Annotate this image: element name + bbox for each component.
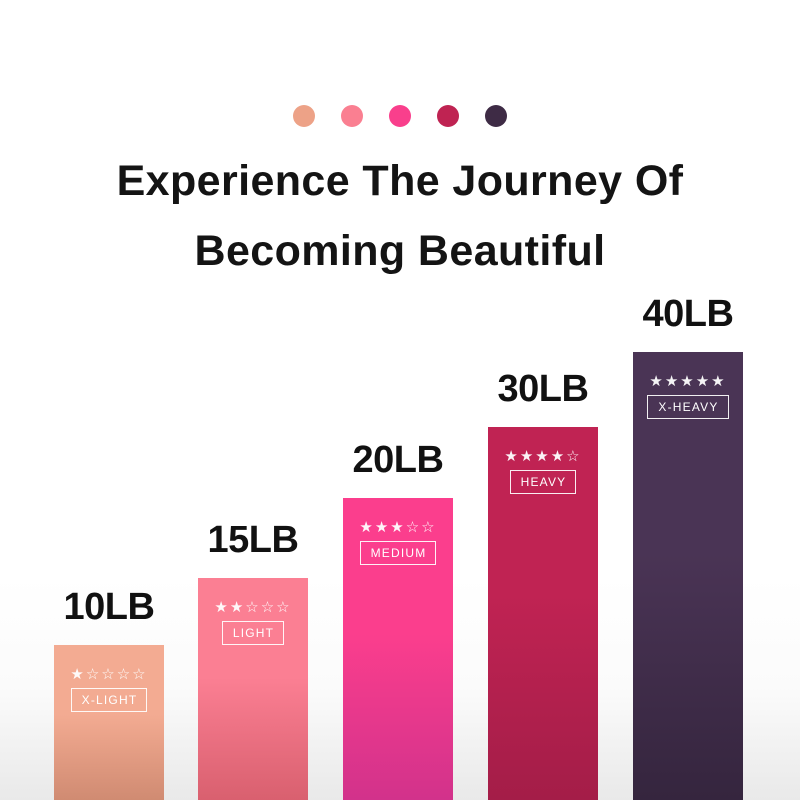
bar-40lb-column[interactable]: ★★★★★X-HEAVY (633, 352, 743, 800)
bar-15lb-level-label: LIGHT (222, 621, 284, 645)
bar-15lb[interactable]: 15LB★★☆☆☆LIGHT (198, 519, 308, 800)
bar-20lb[interactable]: 20LB★★★☆☆MEDIUM (343, 439, 453, 800)
bar-15lb-column[interactable]: ★★☆☆☆LIGHT (198, 578, 308, 800)
bar-30lb[interactable]: 30LB★★★★☆HEAVY (488, 368, 598, 800)
bar-40lb-level-label: X-HEAVY (647, 395, 728, 419)
bar-10lb-value-label: 10LB (54, 586, 164, 629)
bar-40lb[interactable]: 40LB★★★★★X-HEAVY (633, 293, 743, 800)
bar-15lb-badge: ★★☆☆☆LIGHT (198, 600, 308, 645)
bar-15lb-star-rating-icon: ★★☆☆☆ (214, 600, 291, 615)
bar-40lb-star-rating-icon: ★★★★★ (649, 374, 726, 389)
bar-30lb-level-label: HEAVY (510, 470, 577, 494)
resistance-bar-chart: 10LB★☆☆☆☆X-LIGHT15LB★★☆☆☆LIGHT20LB★★★☆☆M… (0, 0, 800, 800)
bar-10lb-column[interactable]: ★☆☆☆☆X-LIGHT (54, 645, 164, 800)
bar-30lb-column[interactable]: ★★★★☆HEAVY (488, 427, 598, 800)
bar-10lb[interactable]: 10LB★☆☆☆☆X-LIGHT (54, 586, 164, 800)
bar-20lb-star-rating-icon: ★★★☆☆ (359, 520, 436, 535)
bar-10lb-level-label: X-LIGHT (71, 688, 148, 712)
bar-20lb-badge: ★★★☆☆MEDIUM (343, 520, 453, 565)
bar-40lb-badge: ★★★★★X-HEAVY (633, 374, 743, 419)
bar-20lb-value-label: 20LB (343, 439, 453, 482)
bar-30lb-badge: ★★★★☆HEAVY (488, 449, 598, 494)
bar-30lb-value-label: 30LB (488, 368, 598, 411)
bar-30lb-star-rating-icon: ★★★★☆ (504, 449, 581, 464)
bar-40lb-value-label: 40LB (633, 293, 743, 336)
bar-15lb-value-label: 15LB (198, 519, 308, 562)
bar-20lb-level-label: MEDIUM (360, 541, 437, 565)
bar-10lb-star-rating-icon: ★☆☆☆☆ (70, 667, 147, 682)
bar-10lb-badge: ★☆☆☆☆X-LIGHT (54, 667, 164, 712)
infographic-root: Experience The Journey Of Becoming Beaut… (0, 0, 800, 800)
bar-20lb-column[interactable]: ★★★☆☆MEDIUM (343, 498, 453, 800)
